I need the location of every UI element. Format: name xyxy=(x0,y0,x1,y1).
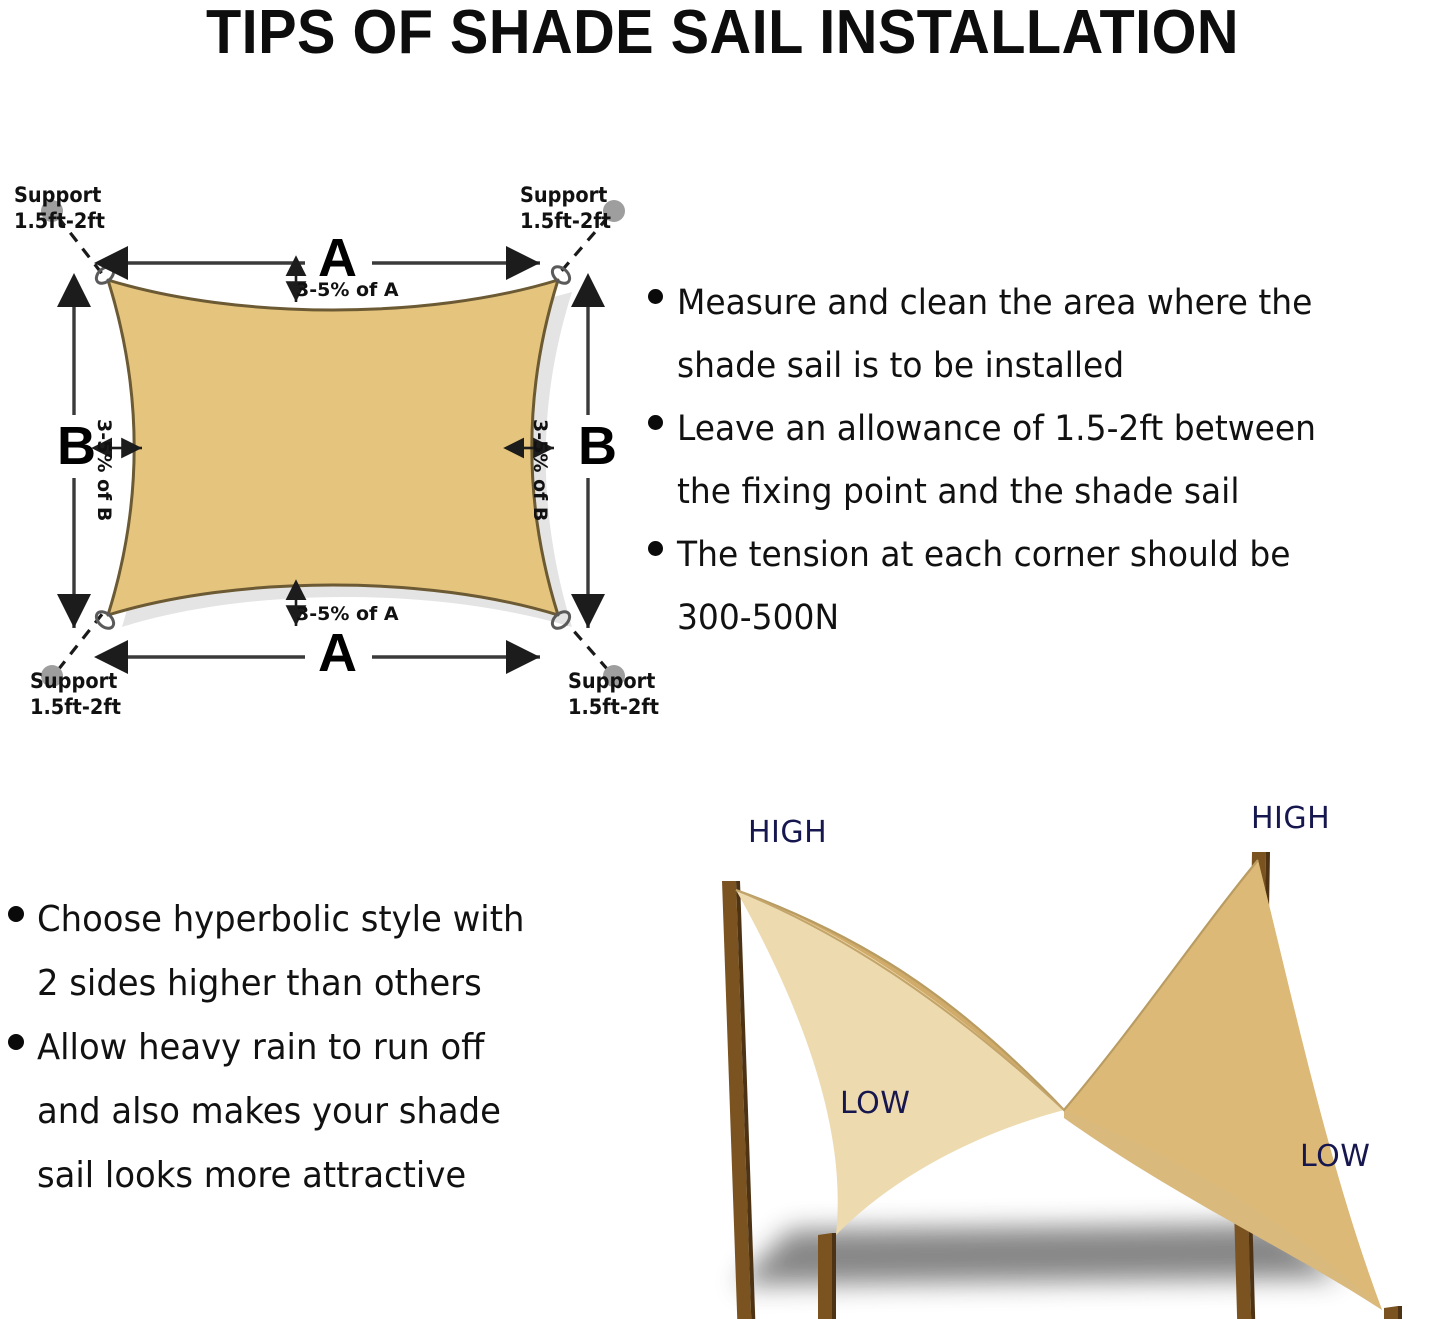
dimension-letter-A-bottom: A xyxy=(318,626,357,680)
post-label-left-high: HIGH xyxy=(748,818,827,848)
curvature-label-top: 3-5% of A xyxy=(296,281,399,300)
support-label-top-left: Support1.5ft-2ft xyxy=(14,182,105,234)
post-left-low xyxy=(818,1233,836,1319)
list-item-text: Leave an allowance of 1.5-2ft between th… xyxy=(677,398,1402,524)
bullet-icon xyxy=(8,906,24,922)
list-item: Allow heavy rain to run off and also mak… xyxy=(8,1016,628,1208)
list-item: The tension at each corner should be 300… xyxy=(648,524,1445,650)
curvature-label-bottom: 3-5% of A xyxy=(296,605,399,624)
infographic-page: TIPS OF SHADE SAIL INSTALLATION xyxy=(0,0,1445,1319)
post-left-high xyxy=(722,881,764,1319)
dimension-letter-A-top: A xyxy=(318,231,357,285)
post-label-right-low: LOW xyxy=(1300,1142,1370,1172)
list-item-text: Measure and clean the area where the sha… xyxy=(677,272,1402,398)
list-item-text: Choose hyperbolic style with 2 sides hig… xyxy=(37,888,593,1016)
curvature-label-right: 3-5% of B xyxy=(530,419,549,521)
dimension-letter-B-left: B xyxy=(57,419,96,473)
bullet-icon xyxy=(648,289,663,304)
support-label-top-right: Support1.5ft-2ft xyxy=(520,182,611,234)
hyperbolic-sail-graphics xyxy=(640,780,1445,1319)
list-item: Leave an allowance of 1.5-2ft between th… xyxy=(648,398,1445,524)
list-item-text: The tension at each corner should be 300… xyxy=(677,524,1402,650)
post-label-left-low: LOW xyxy=(840,1089,910,1119)
shade-sail-body xyxy=(108,280,558,615)
post-label-right-high: HIGH xyxy=(1251,804,1330,834)
bullet-icon xyxy=(648,415,663,430)
curvature-label-left: 3-5% of B xyxy=(94,419,113,521)
list-item: Measure and clean the area where the sha… xyxy=(648,272,1445,398)
support-label-bottom-left: Support1.5ft-2ft xyxy=(30,668,121,720)
page-title: TIPS OF SHADE SAIL INSTALLATION xyxy=(51,0,1395,64)
bullet-icon xyxy=(8,1034,24,1050)
installation-tips-list: Measure and clean the area where the sha… xyxy=(648,272,1445,650)
hyperbolic-style-tips-list: Choose hyperbolic style with 2 sides hig… xyxy=(8,888,628,1208)
bullet-icon xyxy=(648,541,663,556)
list-item-text: Allow heavy rain to run off and also mak… xyxy=(37,1016,593,1208)
dimension-letter-B-right: B xyxy=(578,419,617,473)
list-item: Choose hyperbolic style with 2 sides hig… xyxy=(8,888,628,1016)
support-label-bottom-right: Support1.5ft-2ft xyxy=(568,668,659,720)
post-right-low xyxy=(1384,1306,1402,1319)
